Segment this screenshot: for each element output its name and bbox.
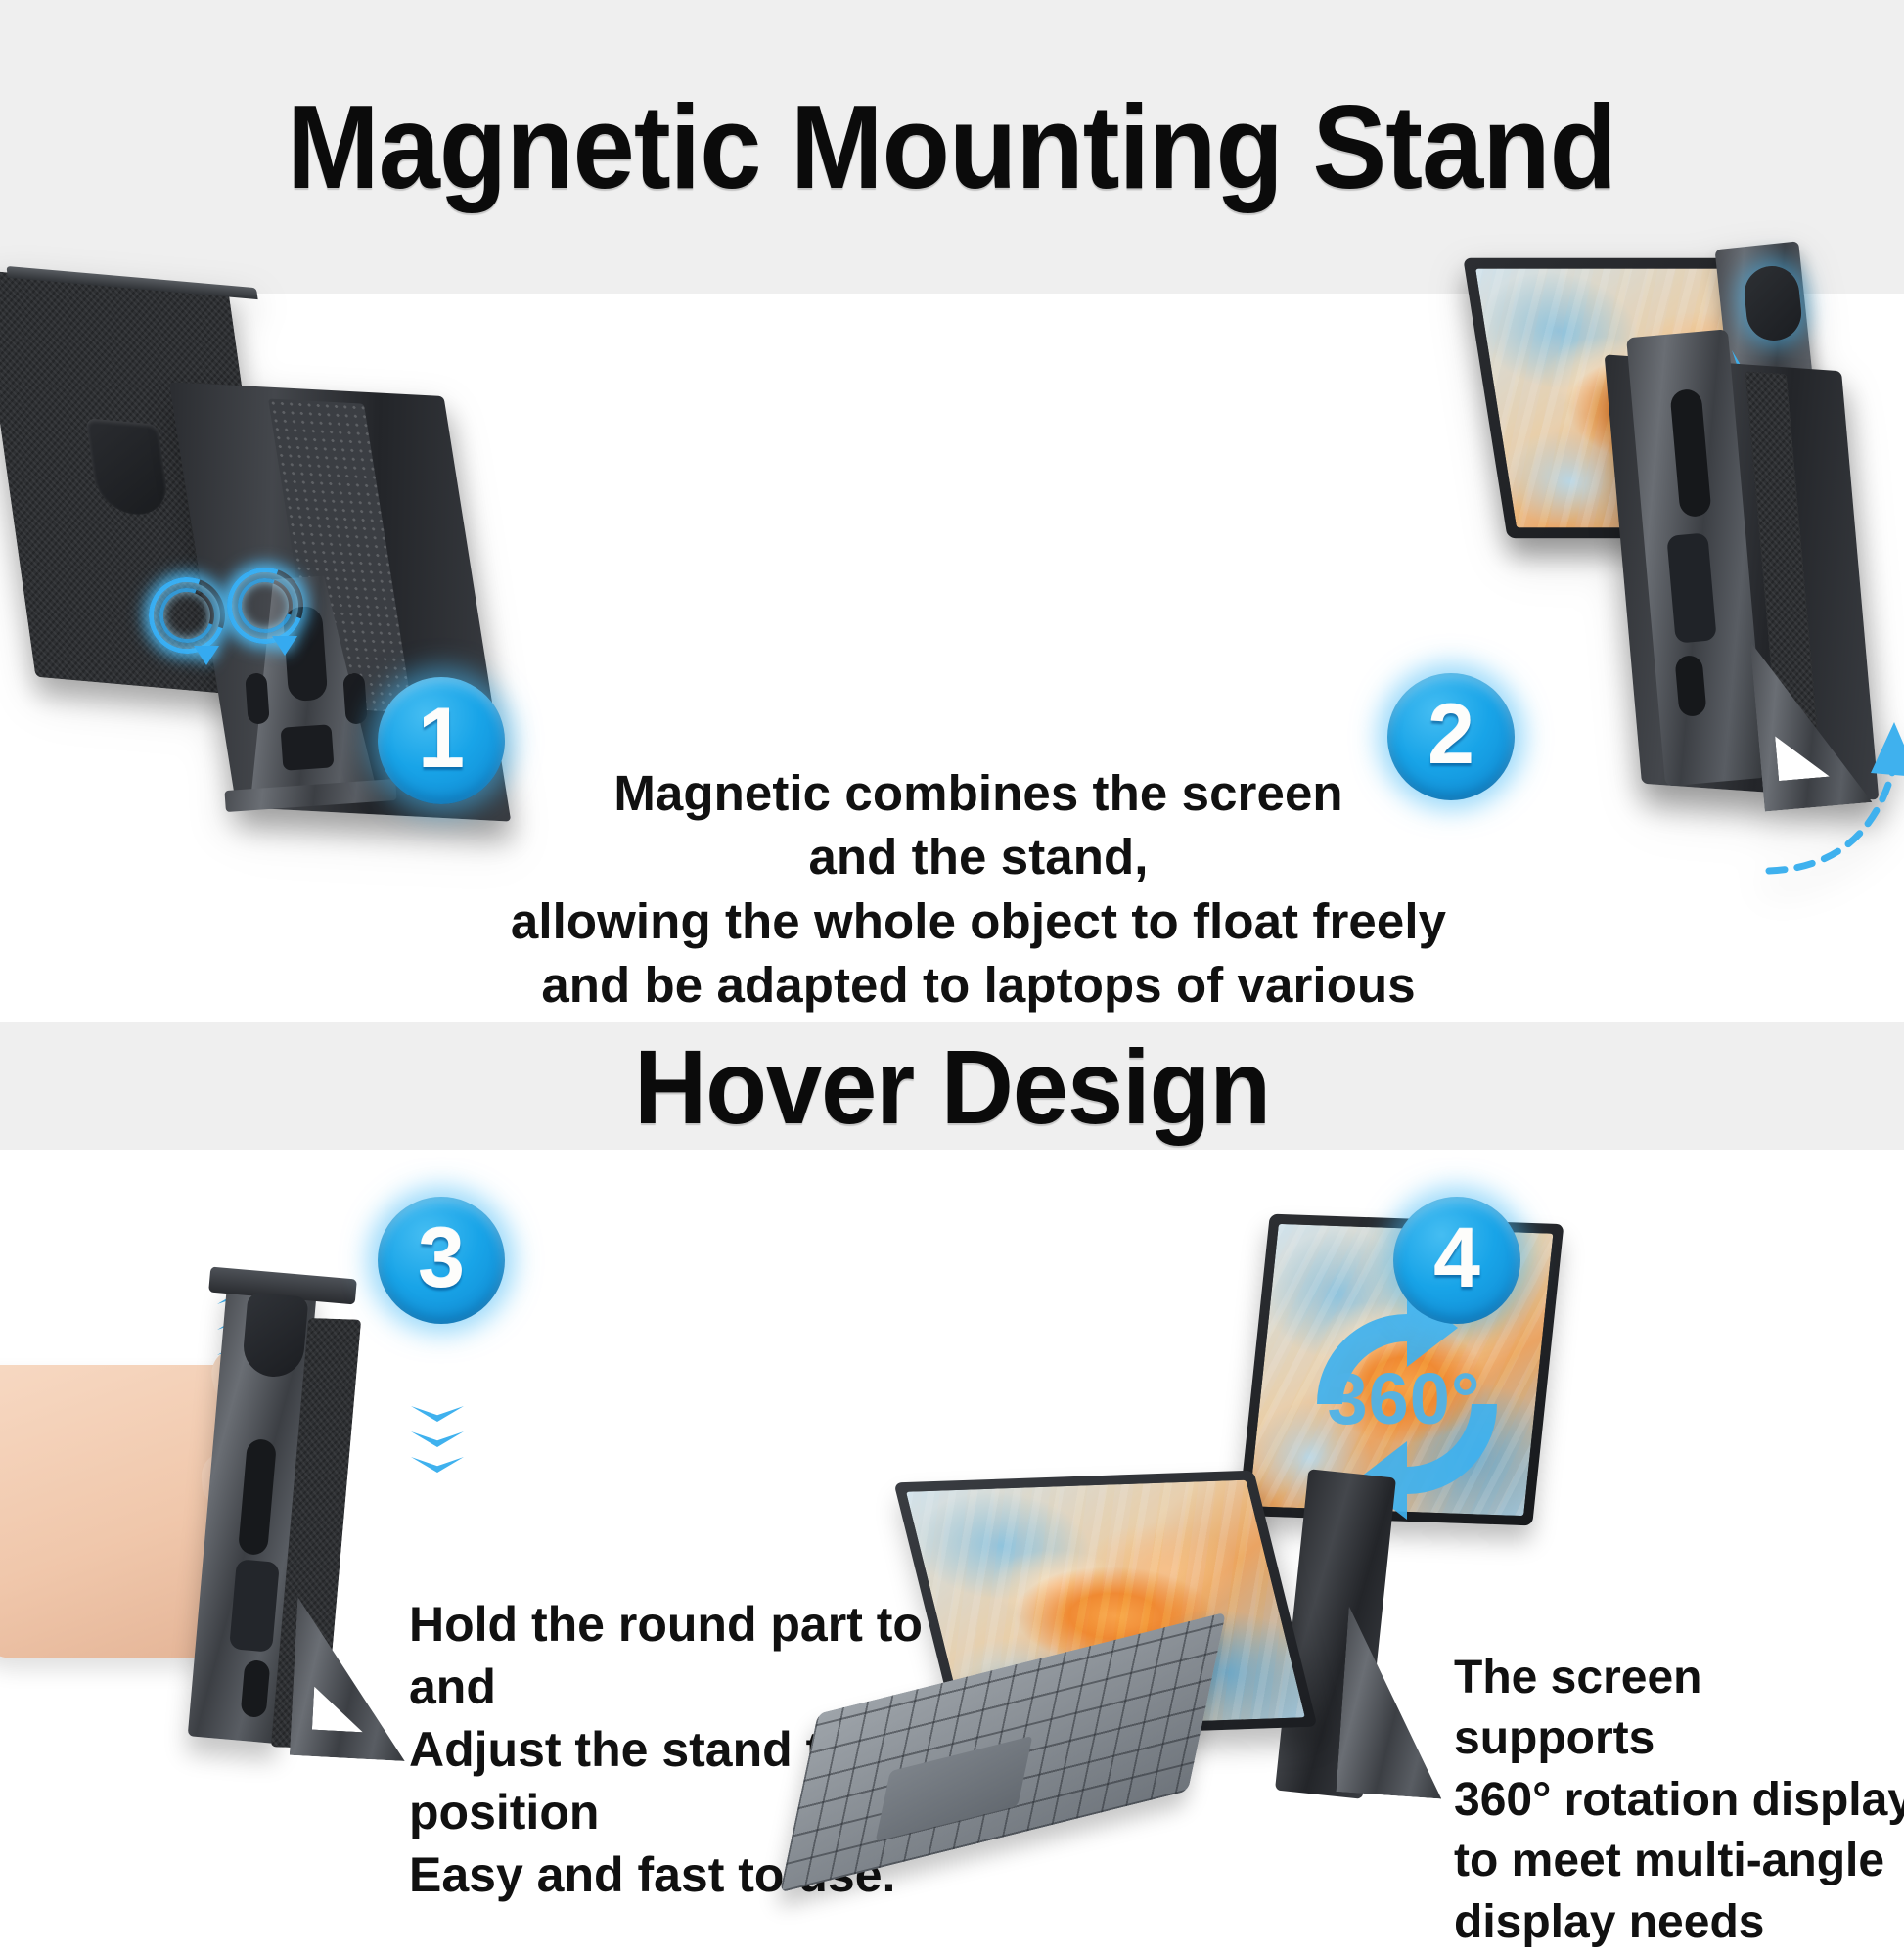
step4-line-4: display needs <box>1454 1892 1904 1953</box>
bracket-slot-lower <box>281 724 335 771</box>
step-badge-2-label: 2 <box>1428 693 1474 777</box>
step1-line-2: and the stand, <box>509 825 1448 888</box>
magnet-swirl-icon-right <box>227 568 303 644</box>
step4-description: The screen supports 360° rotation displa… <box>1454 1648 1904 1953</box>
page-title: Magnetic Mounting Stand <box>288 78 1617 215</box>
rotation-360-label: 360° <box>1292 1357 1517 1440</box>
move-down-chevrons-icon <box>411 1406 464 1482</box>
step-badge-1: 1 <box>378 677 505 804</box>
product-photo-step1 <box>0 284 509 1047</box>
edge-slot-mid <box>229 1559 280 1652</box>
step-badge-4-label: 4 <box>1433 1216 1480 1300</box>
step-badge-2: 2 <box>1387 673 1515 800</box>
magnet-swirl-icon-left <box>149 577 225 654</box>
rail-slot-bottom <box>1674 655 1706 717</box>
product-photo-step4: 360° <box>998 1228 1487 1903</box>
rotation-arc-icon <box>1751 675 1904 881</box>
stand-leg-step4 <box>1337 1606 1455 1798</box>
step4-line-3: to meet multi-angle <box>1454 1831 1904 1891</box>
section-hover-design: 3 <box>0 1150 1904 1904</box>
step1-line-3: allowing the whole object to float freel… <box>509 889 1448 953</box>
step-badge-1-label: 1 <box>418 697 465 781</box>
section-title-hover-design: Hover Design <box>634 1025 1270 1148</box>
step4-line-1: The screen supports <box>1454 1648 1904 1770</box>
step-badge-4: 4 <box>1393 1197 1520 1324</box>
kickstand-leg-step3 <box>290 1597 413 1761</box>
infographic-page: Magnetic Mounting Stand <box>0 0 1904 1904</box>
step1-line-1: Magnetic combines the screen <box>509 761 1448 825</box>
bracket-hole-left <box>245 672 270 724</box>
product-photo-step2 <box>1507 245 1904 1008</box>
hover-design-band: Hover Design <box>0 1022 1904 1150</box>
section-magnetic-mounting: 1 Magnetic combines the screen and the s… <box>0 294 1904 1022</box>
step-badge-3: 3 <box>378 1197 505 1324</box>
step4-line-2: 360° rotation display <box>1454 1770 1904 1831</box>
step-badge-3-label: 3 <box>418 1216 465 1300</box>
bracket-hole-right <box>342 672 368 724</box>
